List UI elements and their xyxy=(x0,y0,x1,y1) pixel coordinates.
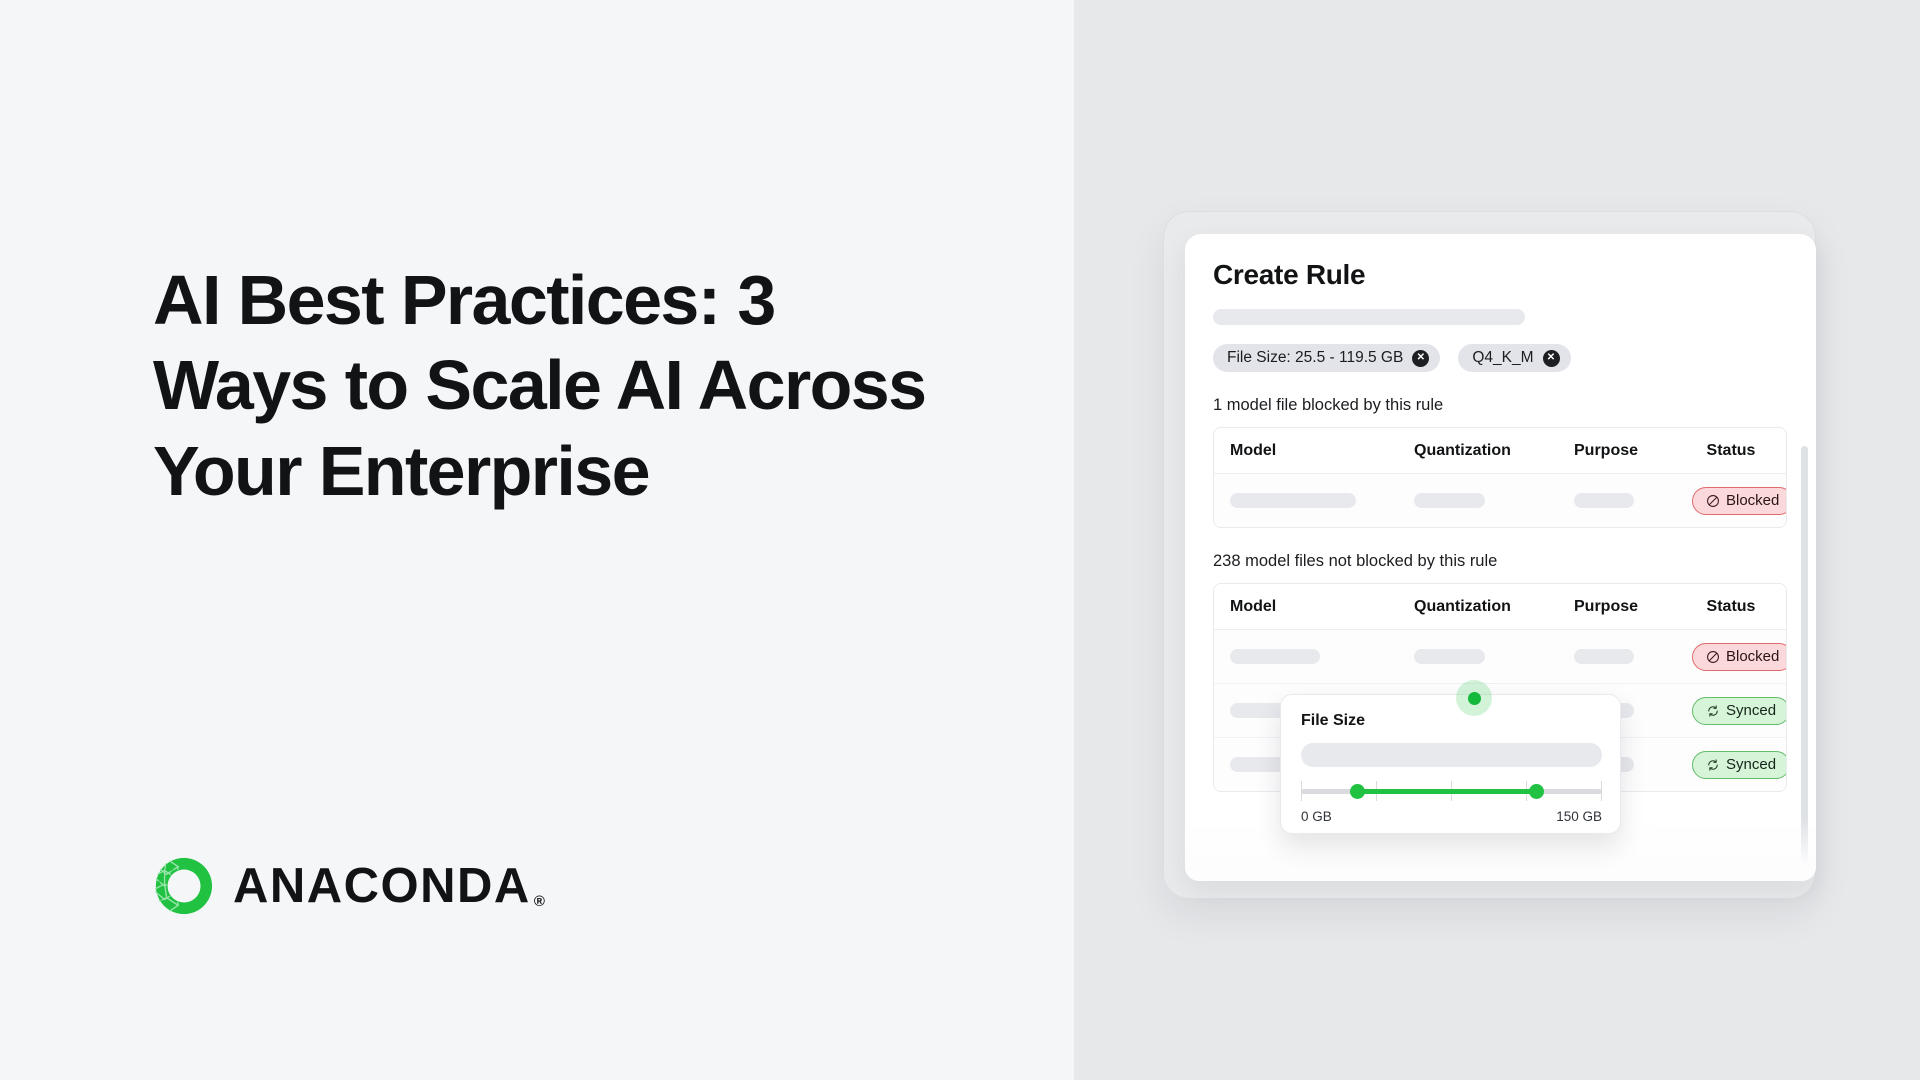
status-badge-label: Blocked xyxy=(1726,648,1779,666)
cell-purpose xyxy=(1574,493,1692,508)
cell-status: Synced xyxy=(1692,697,1787,725)
remove-chip-icon[interactable]: ✕ xyxy=(1543,350,1560,367)
column-header-model: Model xyxy=(1230,598,1414,616)
rule-name-input-skeleton[interactable] xyxy=(1213,309,1525,325)
brand-name: ANACONDA xyxy=(233,862,531,911)
cell-status: Synced xyxy=(1692,751,1787,779)
status-badge-label: Blocked xyxy=(1726,492,1779,510)
status-badge-label: Synced xyxy=(1726,756,1776,774)
cell-quantization xyxy=(1414,493,1574,508)
file-size-popover: File Size 0 GB 150 GB xyxy=(1280,694,1621,834)
blocked-icon xyxy=(1706,494,1720,508)
anaconda-logo: ANACONDA ® xyxy=(153,855,545,917)
column-header-status: Status xyxy=(1692,598,1770,616)
slider-max-label: 150 GB xyxy=(1556,809,1602,824)
status-badge-blocked: Blocked xyxy=(1692,487,1787,515)
remove-chip-icon[interactable]: ✕ xyxy=(1412,350,1429,367)
purpose-skeleton xyxy=(1574,649,1634,664)
model-skeleton xyxy=(1230,493,1356,508)
create-rule-title: Create Rule xyxy=(1213,259,1816,291)
unblocked-section-label: 238 model files not blocked by this rule xyxy=(1213,552,1816,571)
popover-title: File Size xyxy=(1301,712,1600,730)
column-header-quantization: Quantization xyxy=(1414,598,1574,616)
page-title: AI Best Practices: 3 Ways to Scale AI Ac… xyxy=(153,258,953,514)
popover-input-skeleton[interactable] xyxy=(1301,743,1602,767)
table-header-row: Model Quantization Purpose Status xyxy=(1214,428,1786,474)
status-badge-blocked: Blocked xyxy=(1692,643,1787,671)
quantization-skeleton xyxy=(1414,649,1485,664)
card-scrollbar[interactable] xyxy=(1801,446,1808,866)
column-header-purpose: Purpose xyxy=(1574,442,1692,460)
cell-purpose xyxy=(1574,649,1692,664)
slider-handle-high[interactable] xyxy=(1529,784,1544,799)
anaconda-ring-icon xyxy=(153,855,215,917)
column-header-purpose: Purpose xyxy=(1574,598,1692,616)
anaconda-wordmark: ANACONDA ® xyxy=(233,862,545,911)
status-badge-synced: Synced xyxy=(1692,697,1787,725)
slide-canvas: AI Best Practices: 3 Ways to Scale AI Ac… xyxy=(0,0,1920,1080)
filter-chip-list: File Size: 25.5 - 119.5 GB ✕ Q4_K_M ✕ xyxy=(1213,344,1816,372)
registered-mark: ® xyxy=(534,894,545,909)
filter-chip-file-size-label: File Size: 25.5 - 119.5 GB xyxy=(1227,349,1403,367)
sync-icon xyxy=(1706,704,1720,718)
slider-range-labels: 0 GB 150 GB xyxy=(1301,809,1602,824)
cell-model xyxy=(1230,493,1414,508)
status-badge-label: Synced xyxy=(1726,702,1776,720)
slider-handle-low[interactable] xyxy=(1350,784,1365,799)
cell-model xyxy=(1230,649,1414,664)
slider-fill xyxy=(1357,789,1536,794)
table-row[interactable]: Blocked xyxy=(1214,630,1786,684)
model-skeleton xyxy=(1230,649,1320,664)
filter-chip-quantization[interactable]: Q4_K_M ✕ xyxy=(1458,344,1570,372)
cell-status: Blocked xyxy=(1692,487,1787,515)
column-header-model: Model xyxy=(1230,442,1414,460)
sync-icon xyxy=(1706,758,1720,772)
cell-quantization xyxy=(1414,649,1574,664)
filter-chip-quantization-label: Q4_K_M xyxy=(1472,349,1533,367)
cursor-dot-core xyxy=(1468,692,1481,705)
column-header-quantization: Quantization xyxy=(1414,442,1574,460)
blocked-icon xyxy=(1706,650,1720,664)
file-size-range-slider[interactable] xyxy=(1301,785,1602,799)
table-row[interactable]: Blocked xyxy=(1214,474,1786,527)
slider-min-label: 0 GB xyxy=(1301,809,1332,824)
filter-chip-file-size[interactable]: File Size: 25.5 - 119.5 GB ✕ xyxy=(1213,344,1440,372)
cell-status: Blocked xyxy=(1692,643,1787,671)
column-header-status: Status xyxy=(1692,442,1770,460)
left-content: AI Best Practices: 3 Ways to Scale AI Ac… xyxy=(153,0,973,1080)
purpose-skeleton xyxy=(1574,493,1634,508)
table-header-row: Model Quantization Purpose Status xyxy=(1214,584,1786,630)
quantization-skeleton xyxy=(1414,493,1485,508)
status-badge-synced: Synced xyxy=(1692,751,1787,779)
blocked-section-label: 1 model file blocked by this rule xyxy=(1213,396,1816,415)
cursor-pointer-dot xyxy=(1456,680,1492,716)
blocked-models-table: Model Quantization Purpose Status xyxy=(1213,427,1787,528)
